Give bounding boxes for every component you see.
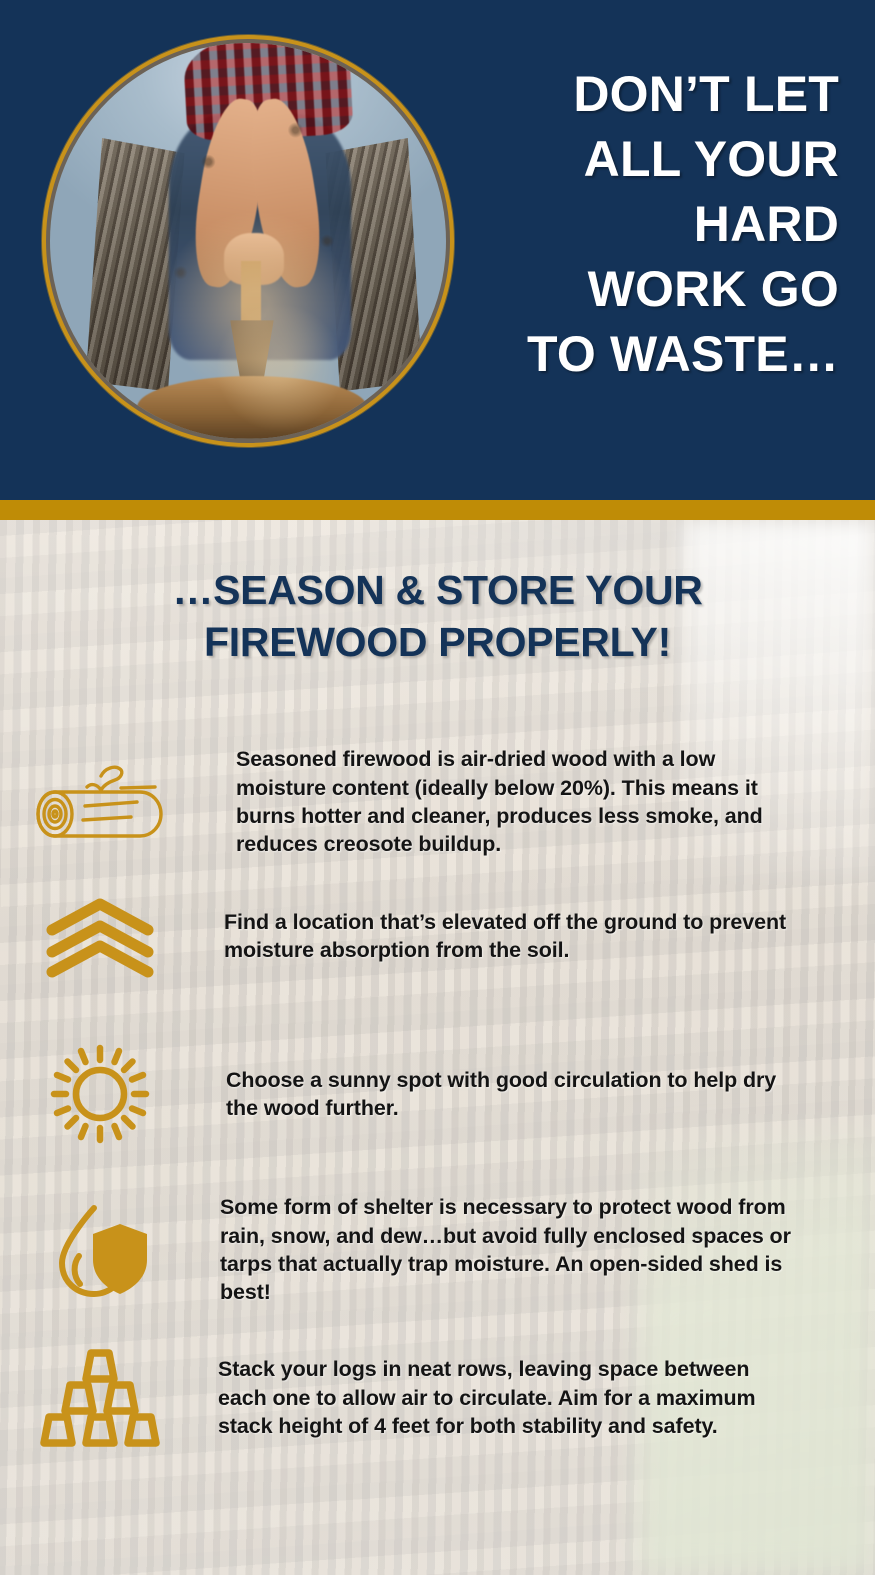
- headline-line-2: ALL YOUR: [459, 127, 839, 192]
- photo-gold-ring: [42, 35, 454, 447]
- tip-text: Some form of shelter is necessary to pro…: [200, 1193, 800, 1307]
- headline: DON’T LET ALL YOUR HARD WORK GO TO WASTE…: [459, 62, 839, 387]
- tip-text: Choose a sunny spot with good circulatio…: [200, 1066, 800, 1123]
- gold-divider-bar: [0, 500, 875, 520]
- list-item: Choose a sunny spot with good circulatio…: [0, 1034, 875, 1154]
- list-item: Seasoned firewood is air-dried wood with…: [0, 742, 875, 862]
- list-item: Stack your logs in neat rows, leaving sp…: [0, 1338, 875, 1458]
- page-title-line-2: FIREWOOD PROPERLY!: [0, 616, 875, 668]
- list-item: Find a location that’s elevated off the …: [0, 876, 875, 996]
- wood-splitting-photo: [50, 43, 446, 439]
- tip-text: Stack your logs in neat rows, leaving sp…: [200, 1355, 800, 1440]
- sun-icon: [0, 1038, 200, 1150]
- headline-line-3: HARD: [459, 192, 839, 257]
- header-section: DON’T LET ALL YOUR HARD WORK GO TO WASTE…: [0, 0, 875, 500]
- stacked-logs-pyramid-icon: [0, 1342, 200, 1454]
- tip-text: Seasoned firewood is air-dried wood with…: [200, 745, 782, 859]
- firewood-infographic-poster: DON’T LET ALL YOUR HARD WORK GO TO WASTE…: [0, 0, 875, 1575]
- headline-line-5: TO WASTE…: [459, 322, 839, 387]
- tips-list: Seasoned firewood is air-dried wood with…: [0, 742, 875, 1458]
- tip-text: Find a location that’s elevated off the …: [200, 908, 810, 965]
- headline-line-4: WORK GO: [459, 257, 839, 322]
- water-drop-shield-icon: [0, 1194, 200, 1306]
- headline-line-1: DON’T LET: [459, 62, 839, 127]
- chevrons-up-icon: [0, 880, 200, 992]
- log-icon: [0, 746, 200, 858]
- body-section: …SEASON & STORE YOUR FIREWOOD PROPERLY!: [0, 520, 875, 1575]
- page-title: …SEASON & STORE YOUR FIREWOOD PROPERLY!: [0, 564, 875, 669]
- list-item: Some form of shelter is necessary to pro…: [0, 1190, 875, 1310]
- header-photo: [42, 35, 454, 447]
- page-title-line-1: …SEASON & STORE YOUR: [0, 564, 875, 616]
